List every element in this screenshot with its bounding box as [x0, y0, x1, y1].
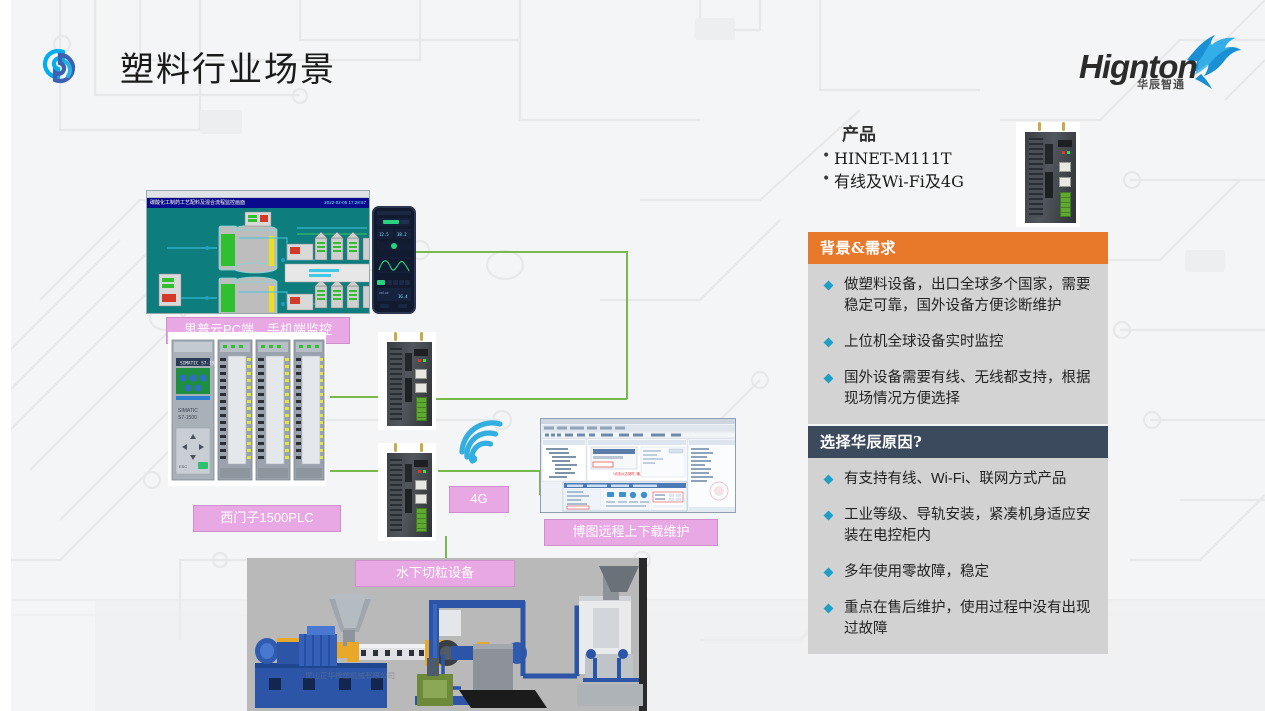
connector-line: [432, 398, 627, 400]
panel-body: 做塑料设备，出口全球多个国家，需要稳定可靠，国外设备方便诊断维护 上位机全球设备…: [808, 264, 1108, 424]
diagram-label-underwater-pelletizer: 水下切粒设备: [355, 560, 515, 587]
tia-portal-graphic: *点击以达到时, 输入用户名和密码: [541, 419, 736, 513]
bullet-item: 多年使用零故障，稳定: [818, 562, 1094, 583]
connector-line: [438, 470, 540, 472]
panel-heading: 选择华辰原因?: [808, 426, 1108, 458]
svg-text:ESC: ESC: [179, 464, 187, 469]
bullet-item: 工业等级、导轨安装，紧凑机身适应安装在电控柜内: [818, 505, 1094, 547]
bullet-item: 国外设备需要有线、无线都支持，根据现场情况方便选择: [818, 368, 1094, 410]
brand-logo: Hignton 华辰智通: [1079, 26, 1249, 92]
wifi-signal-icon: [456, 418, 504, 464]
diagram-label-siemens-plc: 西门子1500PLC: [193, 505, 341, 532]
diagram-label-4g: 4G: [449, 486, 509, 513]
hmi-timestamp: 2022-02-05 17:28:57: [324, 198, 369, 208]
svg-text:value: value: [379, 291, 389, 295]
hmi-titlebar: [147, 191, 369, 198]
hmi-process-graphic: [147, 208, 370, 314]
mobile-dashboard-graphic: 12.5 38.2 value 16.4: [374, 208, 414, 312]
bullet-item: 上位机全球设备实时监控: [818, 332, 1094, 353]
tia-portal-remote-download-screenshot: *点击以达到时, 输入用户名和密码: [540, 418, 736, 513]
brand-subtitle: 华辰智通: [1137, 76, 1185, 92]
diagram-label-tia-remote: 博图远程上下载维护: [544, 519, 718, 546]
svg-text:38.2: 38.2: [397, 232, 407, 237]
hmi-caption-bar: 碳酸化工制药工艺配料及混合流程监控画面 2022-02-05 17:28:57: [147, 198, 369, 208]
hinet-m111t-gateway-photo: [1016, 122, 1080, 227]
scada-process-monitor-screenshot: 碳酸化工制药工艺配料及混合流程监控画面 2022-02-05 17:28:57: [146, 190, 370, 314]
svg-text:SIMATIC S7-1500: SIMATIC S7-1500: [180, 361, 220, 367]
bullet-item: 做塑料设备，出口全球多个国家，需要稳定可靠，国外设备方便诊断维护: [818, 275, 1094, 317]
connector-line: [626, 251, 628, 399]
plc-graphic: SIMATIC S7-1500 SIMATIC S7-1500 ESC: [168, 332, 326, 486]
connector-line: [396, 251, 627, 253]
slide-canvas: 塑料行业场景 Hignton 华辰智通 产品 HINET-M111T 有线及Wi…: [0, 0, 1265, 711]
left-edge-accent: [0, 0, 11, 711]
hinet-gateway-photo-lower: [378, 443, 436, 541]
bullet-item: 有支持有线、Wi-Fi、联网方式产品: [818, 469, 1094, 490]
mobile-monitoring-app-screenshot: 12.5 38.2 value 16.4: [372, 206, 416, 314]
circular-swirl-logo: [33, 40, 85, 92]
plc-brand-text: SIMATIC: [178, 408, 198, 414]
bullet-item: 重点在售后维护，使用过程中没有出现过故障: [818, 598, 1094, 640]
page-title: 塑料行业场景: [120, 42, 336, 91]
hmi-caption: 碳酸化工制药工艺配料及混合流程监控画面: [150, 198, 245, 208]
plc-model-text: S7-1500: [178, 415, 197, 421]
panel-background-requirements: 背景&需求 做塑料设备，出口全球多个国家，需要稳定可靠，国外设备方便诊断维护 上…: [808, 232, 1108, 424]
svg-text:昆山正华橡塑机械有限公司: 昆山正华橡塑机械有限公司: [305, 670, 395, 680]
panel-why-huachen: 选择华辰原因? 有支持有线、Wi-Fi、联网方式产品 工业等级、导轨安装，紧凑机…: [808, 426, 1108, 654]
hinet-gateway-photo-upper: [378, 332, 436, 430]
panel-body: 有支持有线、Wi-Fi、联网方式产品 工业等级、导轨安装，紧凑机身适应安装在电控…: [808, 458, 1108, 654]
svg-text:16.4: 16.4: [398, 294, 408, 299]
siemens-simatic-s7-1500-plc-photo: SIMATIC S7-1500 SIMATIC S7-1500 ESC: [168, 332, 326, 486]
svg-text:12.5: 12.5: [379, 232, 389, 237]
panel-heading: 背景&需求: [808, 232, 1108, 264]
